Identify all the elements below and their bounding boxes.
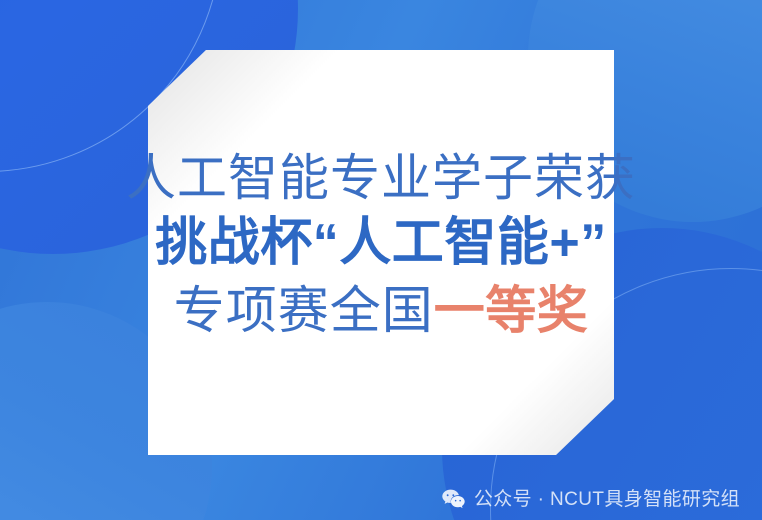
- poster-canvas: 人工智能专业学子荣获 挑战杯“人工智能+” 专项赛全国一等奖 公众号 · NCU…: [0, 0, 762, 520]
- watermark-text: 公众号 · NCUT具身智能研究组: [474, 490, 740, 509]
- watermark: 公众号 · NCUT具身智能研究组: [442, 489, 740, 509]
- headline-line-2: 挑战杯“人工智能+”: [0, 214, 762, 272]
- headline-block: 人工智能专业学子荣获 挑战杯“人工智能+” 专项赛全国一等奖: [0, 50, 762, 339]
- headline-line-1: 人工智能专业学子荣获: [0, 150, 762, 206]
- wechat-icon: [442, 489, 465, 509]
- headline-line-3: 专项赛全国一等奖: [0, 282, 762, 339]
- headline-award-highlight: 一等奖: [434, 282, 589, 339]
- headline-line-3-prefix: 专项赛全国: [174, 282, 434, 339]
